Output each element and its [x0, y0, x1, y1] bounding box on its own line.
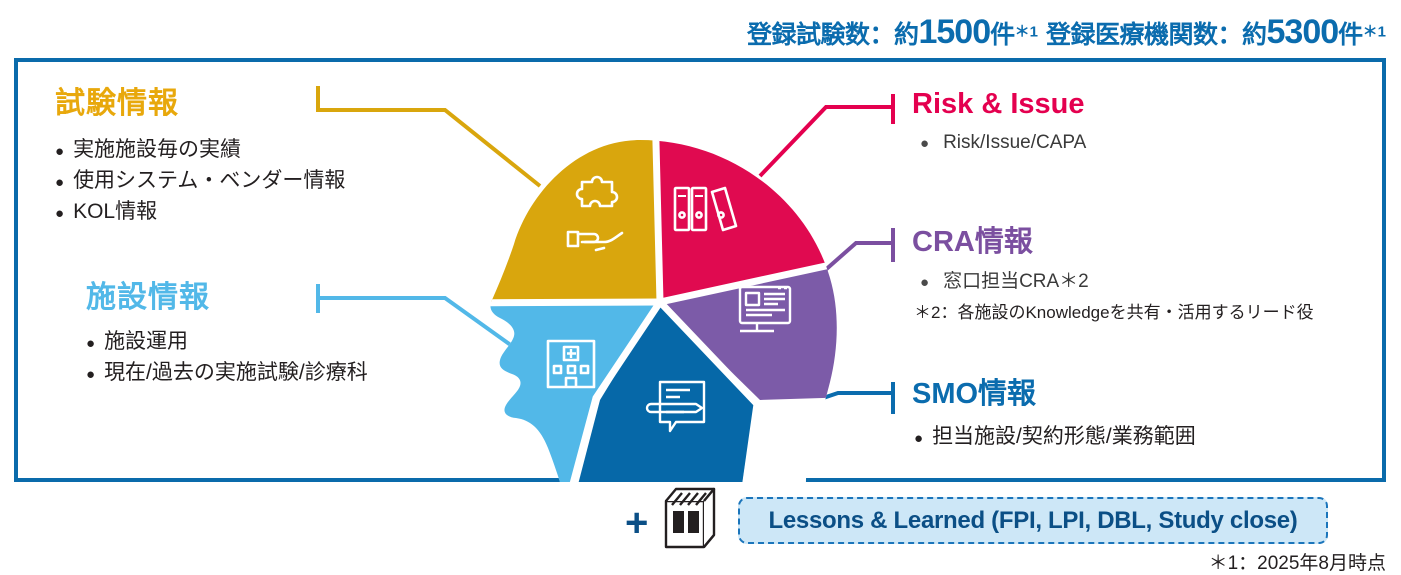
- plus-icon: +: [625, 503, 648, 543]
- panel-cra-title: CRA情報: [912, 218, 1314, 260]
- bullet-text: 担当施設/契約形態/業務範囲: [932, 422, 1196, 452]
- bullet-dot-icon: ●: [920, 136, 929, 151]
- panel-shisetsu-title: 施設情報: [86, 272, 368, 316]
- panel-smo-title: SMO情報: [912, 370, 1196, 412]
- list-item: ●KOL情報: [55, 196, 345, 227]
- registered-trials-label: 登録試験数：約: [747, 21, 919, 49]
- bullet-text: KOL情報: [73, 196, 157, 227]
- panel-shiken-bullets: ●実施施設毎の実績 ●使用システム・ベンダー情報 ●KOL情報: [55, 134, 345, 227]
- registered-sites-unit: 件: [1338, 21, 1363, 49]
- panel-shisetsu: 施設情報 ●施設運用 ●現在/過去の実施試験/診療科: [86, 272, 368, 388]
- list-item: ●実施施設毎の実績: [55, 134, 345, 165]
- bullet-text: 現在/過去の実施試験/診療科: [104, 357, 368, 388]
- bullet-dot-icon: ●: [920, 275, 929, 290]
- bullet-dot-icon: ●: [914, 431, 923, 446]
- bullet-dot-icon: ●: [55, 175, 64, 190]
- list-item: ●使用システム・ベンダー情報: [55, 165, 345, 196]
- panel-shiken-title: 試験情報: [55, 78, 345, 122]
- bullet-dot-icon: ●: [55, 144, 64, 159]
- bullet-dot-icon: ●: [86, 367, 95, 382]
- panel-smo: SMO情報 ●担当施設/契約形態/業務範囲: [912, 370, 1196, 452]
- books-icon: [660, 485, 732, 555]
- panel-risk: Risk & Issue ●Risk/Issue/CAPA: [912, 88, 1086, 157]
- registered-sites-value: 5300: [1267, 13, 1339, 51]
- registered-sites-label: 登録医療機関数：約: [1046, 21, 1267, 49]
- panel-cra-bullets: ●窓口担当CRA＊2 ＊2：各施設のKnowledgeを共有・活用するリード役: [912, 268, 1314, 323]
- panel-cra: CRA情報 ●窓口担当CRA＊2 ＊2：各施設のKnowledgeを共有・活用す…: [912, 218, 1314, 323]
- infographic-canvas: 登録試験数：約1500件＊1登録医療機関数：約5300件＊1: [0, 0, 1401, 575]
- lessons-learned-label: Lessons & Learned (FPI, LPI, DBL, Study …: [769, 507, 1298, 535]
- bullet-text: Risk/Issue/CAPA: [943, 129, 1086, 157]
- bullet-text: 実施施設毎の実績: [73, 134, 241, 165]
- bullet-text: 使用システム・ベンダー情報: [73, 165, 345, 196]
- panel-smo-bullets: ●担当施設/契約形態/業務範囲: [912, 422, 1196, 452]
- bullet-dot-icon: ●: [55, 206, 64, 221]
- registered-trials-unit: 件: [990, 21, 1015, 49]
- list-item: ●担当施設/契約形態/業務範囲: [914, 422, 1196, 452]
- panel-risk-bullets: ●Risk/Issue/CAPA: [912, 129, 1086, 157]
- registered-sites-footnote-mark: ＊1: [1363, 24, 1386, 41]
- footnote-asof: ＊1：2025年8月時点: [1000, 548, 1386, 575]
- list-item: ●Risk/Issue/CAPA: [920, 129, 1086, 157]
- list-item: ●窓口担当CRA＊2: [920, 268, 1314, 296]
- panel-shiken: 試験情報 ●実施施設毎の実績 ●使用システム・ベンダー情報 ●KOL情報: [55, 78, 345, 227]
- registered-trials-value: 1500: [918, 13, 990, 51]
- panel-shisetsu-bullets: ●施設運用 ●現在/過去の実施試験/診療科: [86, 326, 368, 388]
- registered-trials-footnote-mark: ＊1: [1015, 24, 1038, 41]
- bullet-text: 施設運用: [104, 326, 188, 357]
- list-item: ●現在/過去の実施試験/診療科: [86, 357, 368, 388]
- panel-cra-footnote: ＊2：各施設のKnowledgeを共有・活用するリード役: [914, 298, 1314, 323]
- panel-risk-title: Risk & Issue: [912, 88, 1086, 121]
- bullet-dot-icon: ●: [86, 336, 95, 351]
- list-item: ●施設運用: [86, 326, 368, 357]
- lessons-learned-banner: Lessons & Learned (FPI, LPI, DBL, Study …: [738, 497, 1328, 544]
- header-stats: 登録試験数：約1500件＊1登録医療機関数：約5300件＊1: [520, 12, 1386, 52]
- bullet-text: 窓口担当CRA＊2: [943, 268, 1089, 296]
